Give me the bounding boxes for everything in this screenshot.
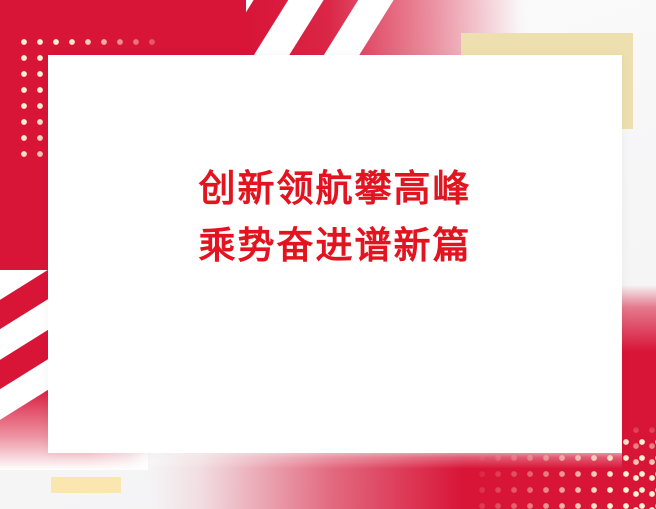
title-line-2: 乘势奋进谱新篇 [48, 217, 622, 274]
gold-chip [51, 477, 121, 493]
content-card: 创新领航攀高峰 乘势奋进谱新篇 [48, 55, 622, 453]
poster-title: 创新领航攀高峰 乘势奋进谱新篇 [48, 160, 622, 275]
title-line-1: 创新领航攀高峰 [48, 160, 622, 217]
gold-corner-horizontal [461, 33, 633, 55]
dot-grid-right-vertical [624, 418, 656, 509]
poster-canvas: 创新领航攀高峰 乘势奋进谱新篇 [0, 0, 656, 509]
